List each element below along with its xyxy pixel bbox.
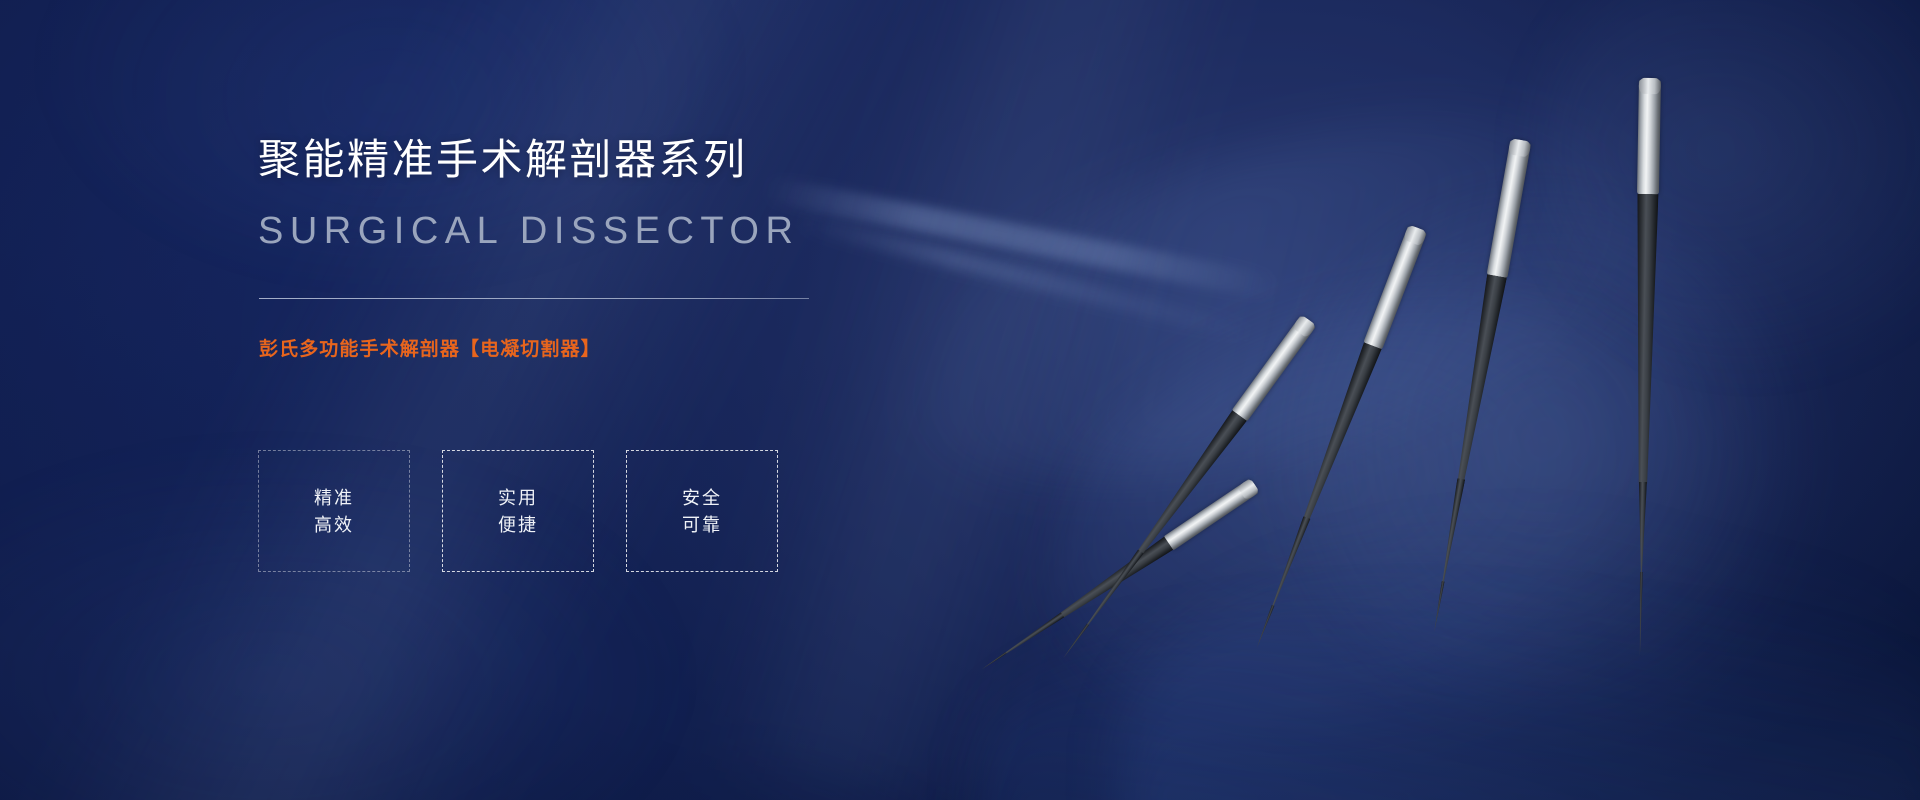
page-subtitle: SURGICAL DISSECTOR (258, 212, 799, 250)
product-name: 彭氏多功能手术解剖器【电凝切割器】 (259, 340, 601, 359)
feature-badge-row: 精准 高效 实用 便捷 安全 可靠 (258, 450, 778, 572)
feature-badge-precision: 精准 高效 (258, 450, 410, 572)
feature-badge-line-2: 便捷 (498, 516, 538, 534)
feature-badge-practical: 实用 便捷 (442, 450, 594, 572)
product-hero-banner: 聚能精准手术解剖器系列 SURGICAL DISSECTOR 彭氏多功能手术解剖… (0, 0, 1920, 800)
divider (259, 298, 809, 299)
feature-badge-line-1: 精准 (314, 489, 354, 507)
banner-text-block: 聚能精准手术解剖器系列 SURGICAL DISSECTOR 彭氏多功能手术解剖… (258, 0, 878, 800)
feature-badge-safety: 安全 可靠 (626, 450, 778, 572)
feature-badge-line-1: 安全 (682, 489, 722, 507)
feature-badge-line-2: 可靠 (682, 516, 722, 534)
feature-badge-line-1: 实用 (498, 489, 538, 507)
feature-badge-line-2: 高效 (314, 516, 354, 534)
page-title: 聚能精准手术解剖器系列 (258, 139, 748, 181)
